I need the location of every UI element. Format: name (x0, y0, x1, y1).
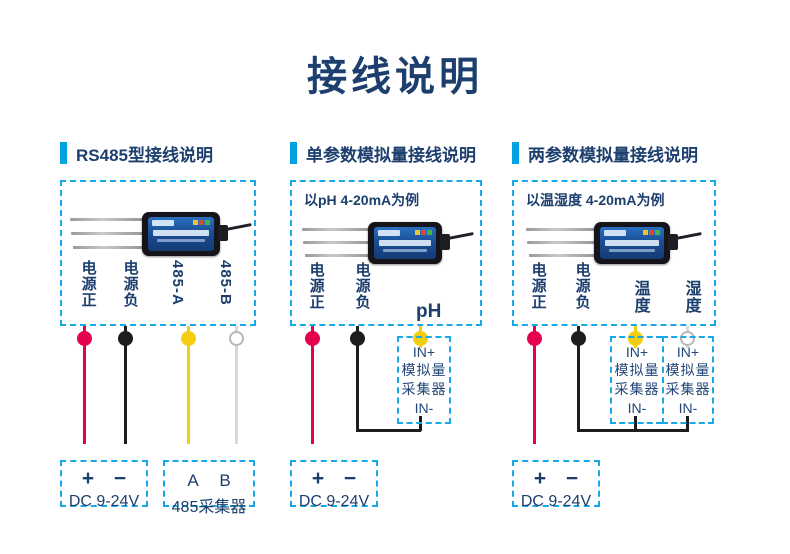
panel-caption: 以pH 4-20mA为例 (304, 190, 419, 210)
power-minus-sign: − (566, 468, 578, 489)
section-title: 单参数模拟量接线说明 (306, 141, 476, 166)
terminal-a-sign: A (187, 472, 198, 489)
sensor-label-plate (600, 227, 664, 259)
power-supply-caption: DC 9-24V (62, 493, 146, 511)
section-rs485: RS485型接线说明 电源 (60, 140, 265, 454)
collector-in-plus: IN+ (677, 343, 699, 362)
power-plus-sign: + (312, 468, 324, 489)
analog-collector-box-2: IN+ 模拟量 采集器 IN- (662, 336, 714, 424)
terminal-label-power-positive: 电源正 (80, 260, 96, 308)
wire-analog-return (356, 429, 421, 432)
accent-bar-icon (512, 142, 519, 164)
panel-caption: 以温湿度 4-20mA为例 (526, 190, 664, 210)
terminal-label-485a: 485-A (169, 260, 185, 306)
sensor-panel-dual-analog: 以温湿度 4-20mA为例 电源正 电源负 (512, 180, 716, 326)
section-header-dual-analog: 两参数模拟量接线说明 (512, 140, 737, 166)
wiring-area-rs485 (60, 326, 265, 454)
collector-in-minus: IN- (679, 399, 698, 418)
power-minus-sign: − (344, 468, 356, 489)
page-title: 接线说明 (0, 44, 790, 102)
collector-line-2: 采集器 (402, 380, 447, 399)
terminal-label-power-negative: 电源负 (122, 260, 138, 308)
power-supply-box-dual-analog: + − DC 9-24V (512, 460, 600, 507)
sensor-cable (676, 232, 702, 240)
section-dual-analog: 两参数模拟量接线说明 以温湿度 4-20mA为例 (512, 140, 737, 454)
wire-analog-return-bus (577, 429, 689, 432)
section-header-rs485: RS485型接线说明 (60, 140, 265, 166)
section-single-analog: 单参数模拟量接线说明 以pH 4-20mA为例 (290, 140, 500, 454)
collector-line-2: 采集器 (666, 380, 711, 399)
power-supply-caption: DC 9-24V (292, 493, 376, 511)
accent-bar-icon (60, 142, 67, 164)
terminal-label-temperature: 温度 (631, 280, 648, 314)
sensor-body (594, 222, 670, 264)
rs485-collector-caption: 485采集器 (165, 493, 253, 517)
sensor-label-plate (148, 217, 214, 251)
terminal-label-power-positive: 电源正 (308, 262, 324, 310)
sensor-cable (226, 223, 252, 231)
section-title: 两参数模拟量接线说明 (528, 141, 698, 166)
analog-collector-box-1: IN+ 模拟量 采集器 IN- (397, 336, 451, 424)
sensor-panel-rs485: 电源正 电源负 485-A 485-B (60, 180, 256, 326)
power-plus-sign: + (82, 468, 94, 489)
terminal-label-ph: pH (416, 302, 441, 322)
terminal-label-power-negative: 电源负 (574, 262, 590, 310)
power-supply-caption: DC 9-24V (514, 493, 598, 511)
power-supply-box-rs485: + − DC 9-24V (60, 460, 148, 507)
terminal-b-sign: B (219, 472, 230, 489)
sensor-cable (448, 232, 474, 240)
collector-line-1: 模拟量 (615, 361, 660, 380)
sensor-body (368, 222, 442, 264)
power-plus-sign: + (534, 468, 546, 489)
collector-in-minus: IN- (628, 399, 647, 418)
sensor-label-plate (374, 227, 436, 259)
collector-line-2: 采集器 (615, 380, 660, 399)
accent-bar-icon (290, 142, 297, 164)
sensor-panel-single-analog: 以pH 4-20mA为例 电源正 电源负 (290, 180, 482, 326)
sensor-body (142, 212, 220, 256)
wiring-area-single-analog (290, 326, 500, 454)
rs485-collector-box: A B 485采集器 (163, 460, 255, 507)
collector-in-minus: IN- (415, 399, 434, 418)
collector-in-plus: IN+ (413, 343, 435, 362)
terminal-label-power-negative: 电源负 (354, 262, 370, 310)
collector-line-1: 模拟量 (402, 361, 447, 380)
section-header-single-analog: 单参数模拟量接线说明 (290, 140, 500, 166)
terminal-label-power-positive: 电源正 (530, 262, 546, 310)
section-title: RS485型接线说明 (76, 141, 213, 166)
analog-collector-box-1: IN+ 模拟量 采集器 IN- (610, 336, 662, 424)
collector-line-1: 模拟量 (666, 361, 711, 380)
soil-sensor-device (526, 220, 704, 286)
power-minus-sign: − (114, 468, 126, 489)
soil-sensor-device (302, 220, 472, 286)
power-supply-box-single-analog: + − DC 9-24V (290, 460, 378, 507)
terminal-label-485b: 485-B (217, 260, 233, 306)
collector-in-plus: IN+ (626, 343, 648, 362)
terminal-label-humidity: 湿度 (682, 280, 699, 314)
